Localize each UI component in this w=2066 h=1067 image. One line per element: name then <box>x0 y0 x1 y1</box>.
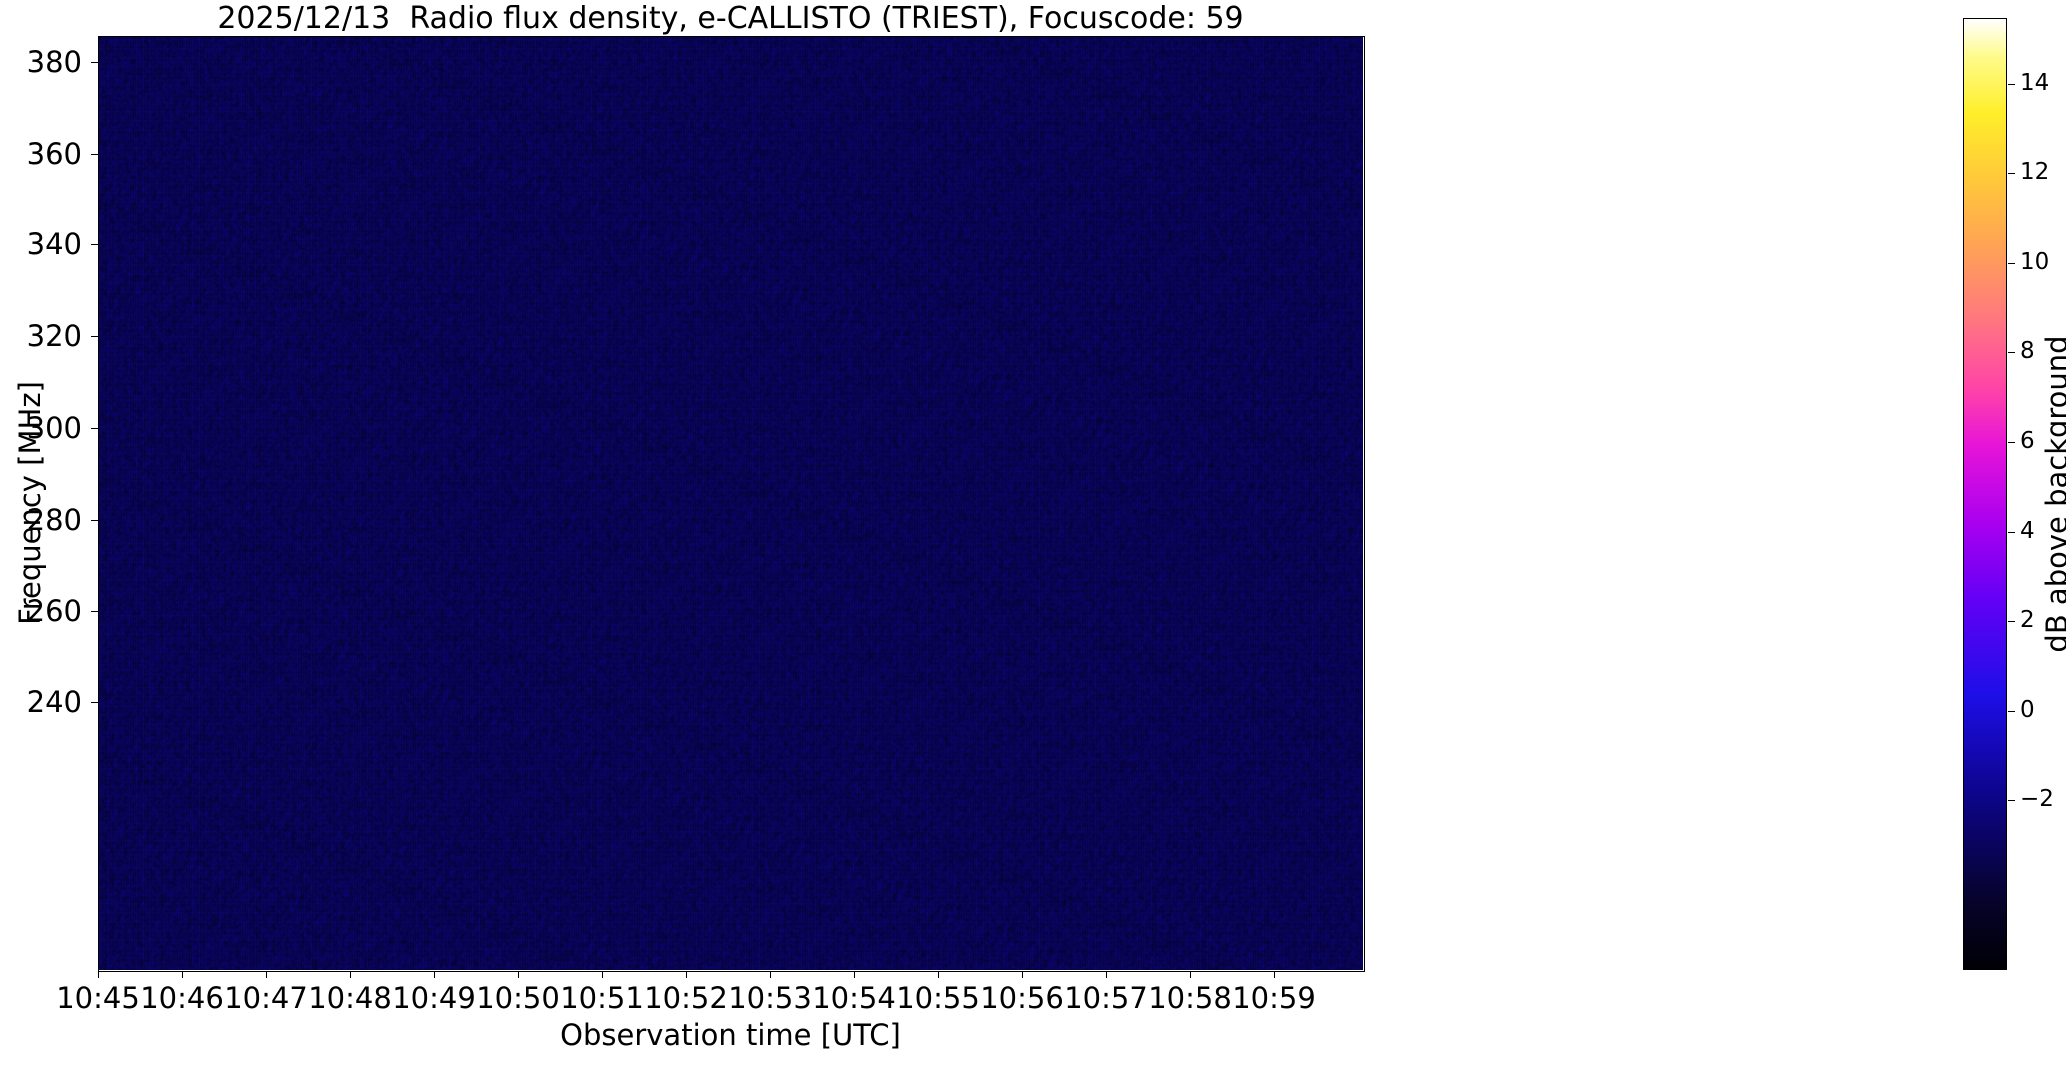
y-tick-mark <box>91 62 98 63</box>
colorbar-label: dB above background <box>2040 18 2066 970</box>
spectrogram-figure: 2025/12/13 Radio flux density, e-CALLIST… <box>0 0 2066 1067</box>
colorbar-tick-label: 8 <box>2020 338 2035 364</box>
colorbar-tick-label: 2 <box>2020 607 2035 633</box>
colorbar-tick-mark <box>2008 84 2015 85</box>
x-tick-mark <box>350 971 351 978</box>
spectrogram-plot-area[interactable] <box>98 36 1363 970</box>
page-title: 2025/12/13 Radio flux density, e-CALLIST… <box>98 2 1363 36</box>
y-tick-mark <box>91 520 98 521</box>
x-tick-mark <box>602 971 603 978</box>
colorbar-tick-mark <box>2008 800 2015 801</box>
x-tick-mark <box>1190 971 1191 978</box>
y-tick-mark <box>91 428 98 429</box>
x-tick-mark <box>854 971 855 978</box>
y-tick-mark <box>91 154 98 155</box>
colorbar-tick-mark <box>2008 263 2015 264</box>
colorbar-tick-label: 0 <box>2020 697 2035 723</box>
x-tick-mark <box>266 971 267 978</box>
x-axis-label: Observation time [UTC] <box>98 1018 1363 1052</box>
colorbar-tick-label: 4 <box>2020 518 2035 544</box>
x-tick-mark <box>1106 971 1107 978</box>
x-tick-mark <box>434 971 435 978</box>
colorbar[interactable] <box>1963 18 2007 970</box>
x-tick-mark <box>98 971 99 978</box>
colorbar-tick-mark <box>2008 442 2015 443</box>
y-tick-mark <box>91 611 98 612</box>
x-tick-label: 10:59 <box>1194 981 1354 1015</box>
colorbar-tick-mark <box>2008 173 2015 174</box>
y-axis-label: Frequency [MHz] <box>12 36 48 970</box>
x-tick-mark <box>1274 971 1275 978</box>
colorbar-tick-mark <box>2008 711 2015 712</box>
x-tick-mark <box>938 971 939 978</box>
x-tick-mark <box>182 971 183 978</box>
colorbar-tick-mark <box>2008 352 2015 353</box>
y-tick-mark <box>91 702 98 703</box>
y-tick-mark <box>91 244 98 245</box>
colorbar-tick-mark <box>2008 621 2015 622</box>
heatmap-noise-texture <box>98 36 1363 970</box>
x-tick-mark <box>770 971 771 978</box>
x-tick-mark <box>1022 971 1023 978</box>
colorbar-tick-label: 6 <box>2020 428 2035 454</box>
colorbar-tick-mark <box>2008 532 2015 533</box>
y-tick-mark <box>91 336 98 337</box>
x-tick-mark <box>686 971 687 978</box>
x-tick-mark <box>518 971 519 978</box>
